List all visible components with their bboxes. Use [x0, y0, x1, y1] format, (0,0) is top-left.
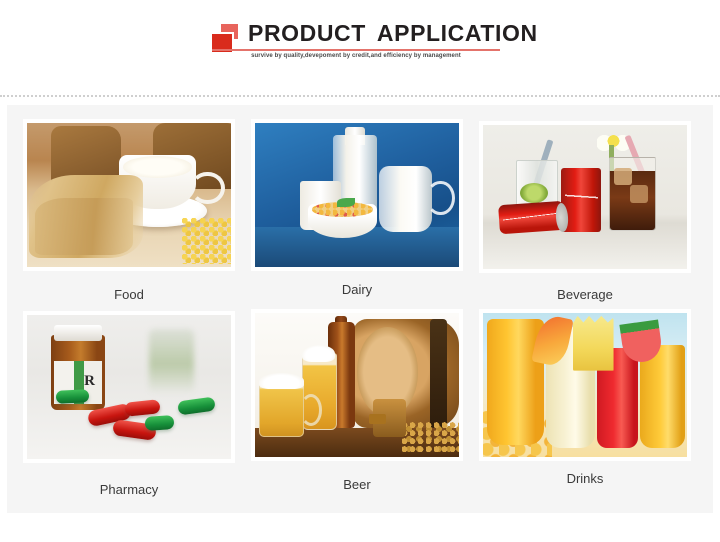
product-card-dairy[interactable]: Dairy	[251, 119, 463, 297]
card-photo-frame	[23, 119, 235, 271]
pharmacy-bottle-cap	[54, 325, 103, 341]
two-red-squares-logo-icon	[212, 24, 244, 50]
dairy-milk-jug	[379, 166, 432, 232]
food-pasta-pile	[182, 218, 231, 264]
product-card-label: Pharmacy	[23, 482, 235, 497]
beverage-ice-cube-2	[630, 185, 648, 202]
card-photo-frame	[479, 121, 691, 273]
cola-can-wave-mark	[564, 186, 598, 207]
drinks-pineapple-wedge	[573, 316, 614, 371]
beverage-ice-cube-1	[614, 168, 632, 185]
cola-can-wave-mark	[503, 210, 561, 224]
beer-photo	[255, 313, 459, 457]
brand-tagline: survive by quality,devepoment by credit,…	[212, 53, 500, 59]
dairy-photo	[255, 123, 459, 267]
product-card-label: Dairy	[251, 282, 463, 297]
beer-mug	[259, 382, 304, 437]
product-application-panel: Food Dairy	[7, 105, 713, 513]
food-wheat-stalks	[35, 198, 133, 256]
page-title-application: APPLICATION	[377, 20, 538, 47]
product-card-label: Beer	[251, 477, 463, 492]
product-card-food[interactable]: Food	[23, 119, 235, 302]
product-card-label: Drinks	[479, 471, 691, 486]
card-photo-frame: R	[23, 311, 235, 463]
food-photo	[27, 123, 231, 267]
drinks-photo	[483, 313, 687, 457]
dairy-jug-handle	[426, 181, 454, 216]
product-card-label: Beverage	[479, 287, 691, 302]
food-cup-handle	[190, 172, 225, 204]
capsule-green-1	[55, 389, 88, 404]
title-underline-rule	[212, 49, 500, 51]
dairy-mint-leaf	[337, 198, 355, 207]
card-photo-frame	[251, 309, 463, 461]
beer-glass-foam	[302, 345, 335, 362]
product-card-drinks[interactable]: Drinks	[479, 309, 691, 486]
beer-barley-grain	[402, 422, 459, 454]
page-title-product: PRODUCT	[248, 20, 366, 47]
product-card-beverage[interactable]: Beverage	[479, 121, 691, 302]
page-title: PRODUCT APPLICATION	[248, 18, 538, 48]
beverage-flower	[597, 131, 630, 151]
page-header: PRODUCT APPLICATION survive by quality,d…	[0, 0, 720, 96]
pharmacy-background-blur	[149, 329, 194, 392]
product-card-grid: Food Dairy	[7, 105, 713, 513]
beverage-photo	[483, 125, 687, 269]
section-divider	[0, 95, 720, 97]
product-card-beer[interactable]: Beer	[251, 309, 463, 492]
card-photo-frame	[251, 119, 463, 271]
capsule-green-2	[145, 415, 174, 431]
brand-lockup: PRODUCT APPLICATION survive by quality,d…	[212, 18, 500, 70]
beer-mug-handle	[300, 394, 322, 426]
beer-barrel-ring	[430, 319, 446, 428]
pharmacy-rx-mark: R	[84, 373, 95, 390]
product-card-pharmacy[interactable]: R Pharmacy	[23, 311, 235, 497]
beer-mug-foam	[259, 373, 304, 389]
pharmacy-photo: R	[27, 315, 231, 459]
beer-tap-nozzle	[369, 414, 385, 424]
beverage-lime-slice	[520, 183, 549, 203]
product-card-label: Food	[23, 287, 235, 302]
card-photo-frame	[479, 309, 691, 461]
